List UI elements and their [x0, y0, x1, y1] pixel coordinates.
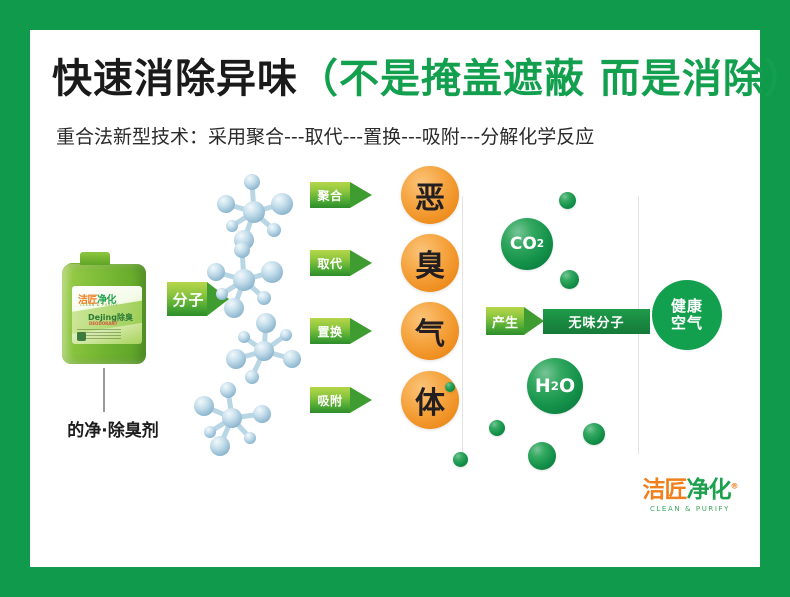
h2o-label-h: H — [535, 375, 551, 397]
page-title: 快速消除异味（不是掩盖遮蔽 而是消除） — [52, 57, 742, 101]
bottle-body: 洁匠净化 CLEAN & PURIFY Dejing除臭 DEODORANT — [62, 264, 146, 364]
bottle-cap — [80, 252, 110, 265]
brand-tagline: CLEAN & PURIFY — [630, 505, 750, 513]
bottle-label: 洁匠净化 CLEAN & PURIFY Dejing除臭 DEODORANT — [72, 286, 142, 344]
brand-logo-name: 洁匠净化® — [630, 470, 750, 504]
poster-frame: 快速消除异味（不是掩盖遮蔽 而是消除） 重合法新型技术：采用聚合---取代---… — [0, 0, 790, 597]
green-sphere-small — [489, 420, 505, 436]
gas-char-circle: 气 — [401, 302, 459, 360]
reaction-arrow-label: 吸附 — [310, 387, 350, 413]
label-product-sub: DEODORANT — [89, 321, 117, 326]
gas-char-circle: 体 — [401, 371, 459, 429]
page-subtitle: 重合法新型技术：采用聚合---取代---置换---吸附---分解化学反应 — [56, 122, 736, 149]
page-title-green: （不是掩盖遮蔽 而是消除） — [298, 56, 790, 102]
arrow-head-icon — [524, 307, 544, 335]
product-caption: 的净·除臭剂 — [48, 416, 178, 441]
callout-line — [103, 368, 105, 412]
odorless-molecule-bar: 无味分子 — [543, 309, 650, 334]
produce-arrow-label: 产生 — [486, 307, 524, 335]
healthy-air-line2: 空气 — [671, 315, 703, 332]
molecule-cluster-icon — [202, 242, 286, 318]
reaction-arrow-label: 取代 — [310, 250, 350, 276]
molecule-cluster-icon — [190, 380, 274, 456]
registered-mark-icon: ® — [731, 481, 738, 490]
molecule-cluster-icon — [212, 174, 296, 250]
reaction-arrow-label: 置换 — [310, 318, 350, 344]
green-sphere-small — [583, 423, 605, 445]
h2o-subscript: 2 — [551, 379, 559, 393]
green-sphere-small — [445, 382, 455, 392]
arrow-head-icon — [350, 250, 372, 276]
arrow-head-icon — [350, 387, 372, 413]
gas-char-circle: 臭 — [401, 234, 459, 292]
h2o-sphere: H2O — [527, 358, 583, 414]
reaction-arrow-adsorption: 吸附 — [310, 387, 372, 413]
product-bottle-icon: 洁匠净化 CLEAN & PURIFY Dejing除臭 DEODORANT — [58, 252, 154, 368]
h2o-label-o: O — [559, 375, 575, 397]
co2-sphere: CO2 — [501, 218, 553, 270]
arrow-head-icon — [350, 182, 372, 208]
green-sphere-small — [560, 270, 579, 289]
green-sphere-small — [453, 452, 468, 467]
reaction-arrow-substitution: 取代 — [310, 250, 372, 276]
green-sphere-small — [528, 442, 556, 470]
arrow-head-icon — [350, 318, 372, 344]
co2-subscript: 2 — [537, 238, 544, 250]
reaction-arrow-polymerization: 聚合 — [310, 182, 372, 208]
molecule-input-arrow-label: 分子 — [167, 282, 207, 316]
reaction-arrow-displacement: 置换 — [310, 318, 372, 344]
healthy-air-line1: 健康 — [671, 298, 703, 315]
poster-canvas: 快速消除异味（不是掩盖遮蔽 而是消除） 重合法新型技术：采用聚合---取代---… — [30, 30, 760, 567]
healthy-air-badge: 健康 空气 — [652, 280, 722, 350]
produce-arrow: 产生 — [486, 307, 544, 335]
co2-label: CO — [510, 234, 537, 254]
green-sphere-small — [559, 192, 576, 209]
brand-name-green: 净化 — [687, 477, 731, 503]
page-title-black: 快速消除异味 — [52, 56, 298, 102]
gas-char-circle: 恶 — [401, 166, 459, 224]
reaction-arrow-label: 聚合 — [310, 182, 350, 208]
panel-divider-1 — [462, 196, 463, 454]
label-brand-en: CLEAN & PURIFY — [80, 303, 118, 307]
brand-logo: 洁匠净化® CLEAN & PURIFY — [630, 470, 750, 513]
molecule-cluster-icon — [222, 313, 306, 389]
brand-name-orange: 洁匠 — [643, 477, 687, 503]
label-badge-icon — [77, 332, 86, 341]
